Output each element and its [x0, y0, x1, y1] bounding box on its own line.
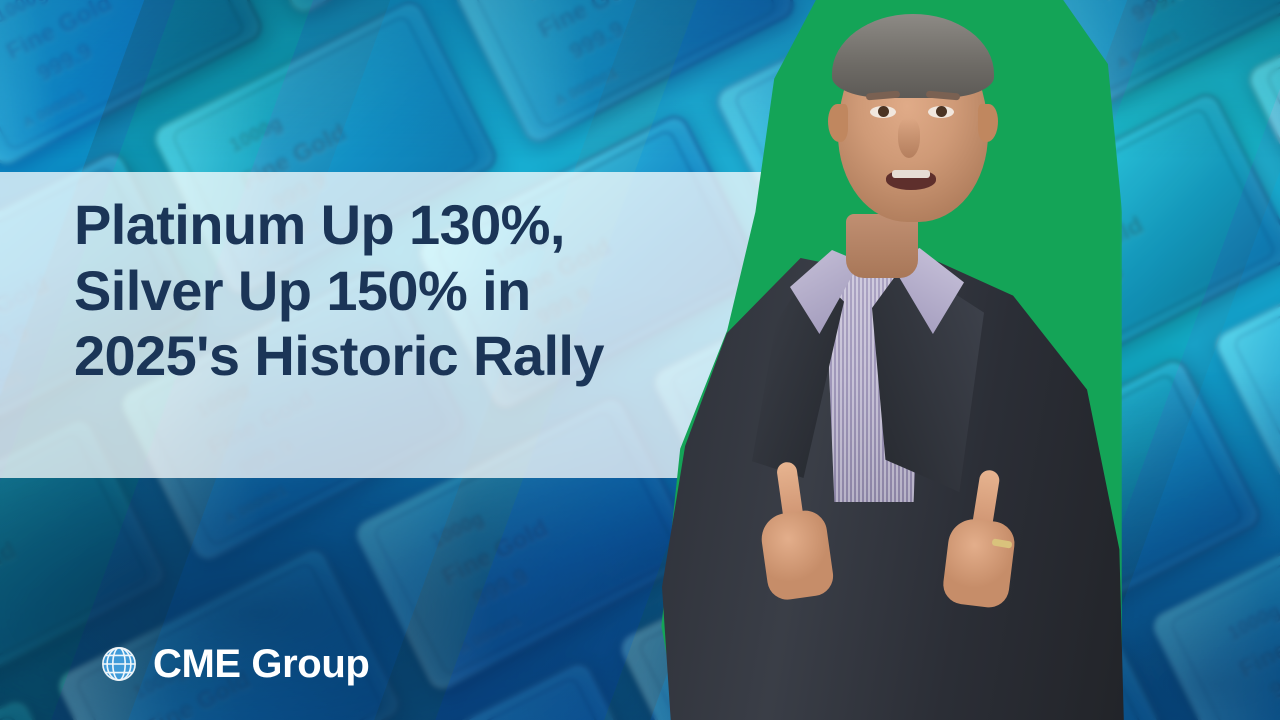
- presenter-neck: [846, 214, 918, 278]
- cme-group-logo: CME Group: [100, 644, 369, 684]
- globe-icon: [100, 645, 138, 683]
- video-thumbnail: 1000gFine Gold999.9A 0000011000gFine Gol…: [0, 0, 1280, 720]
- presenter-nose: [898, 118, 920, 158]
- presenter-pupil-left: [878, 106, 889, 117]
- presenter-teeth: [892, 170, 930, 178]
- presenter-pupil-right: [936, 106, 947, 117]
- presenter-ear-left: [828, 104, 848, 142]
- brand-wordmark: CME Group: [153, 644, 369, 684]
- presenter: [640, 0, 1280, 720]
